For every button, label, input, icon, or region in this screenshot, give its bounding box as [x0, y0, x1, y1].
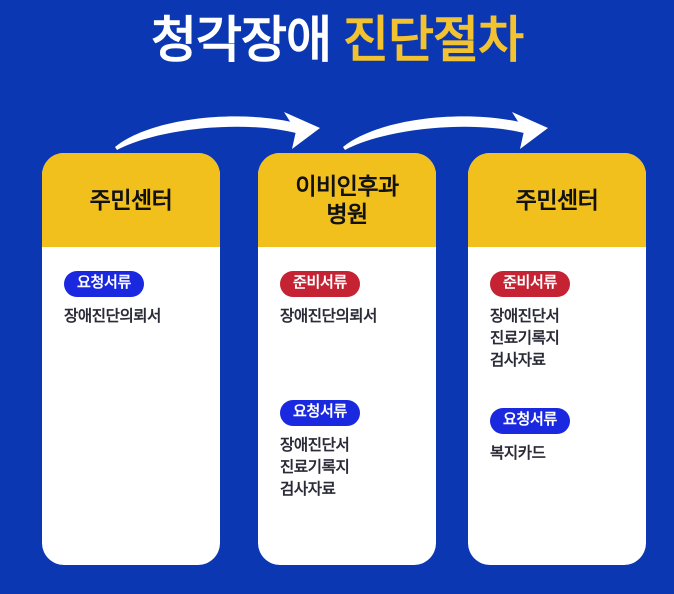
- step-card-3[interactable]: 주민센터 준비서류 장애진단서 진료기록지 검사자료 요청서류 복지카드: [468, 153, 646, 565]
- card-3-header-title: 주민센터: [516, 186, 599, 214]
- page-title: 청각장애진단절차: [0, 14, 674, 67]
- card-3-group-2-badge: 요청서류: [490, 408, 570, 434]
- card-2-header: 이비인후과 병원: [258, 153, 436, 247]
- card-2-body: 준비서류 장애진단의뢰서 요청서류 장애진단서 진료기록지 검사자료: [258, 247, 436, 565]
- card-2-group-2-documents: 장애진단서 진료기록지 검사자료: [280, 435, 424, 501]
- infographic-page: 청각장애진단절차 주민센터 요청서류 장애진단의뢰서 이비인후과 병원: [0, 0, 674, 594]
- card-3-group-1: 준비서류 장애진단서 진료기록지 검사자료: [468, 271, 646, 372]
- card-3-group-1-documents: 장애진단서 진료기록지 검사자료: [490, 306, 634, 372]
- card-2-header-title: 이비인후과 병원: [295, 172, 398, 228]
- card-1-header-title: 주민센터: [90, 186, 173, 214]
- step-card-1[interactable]: 주민센터 요청서류 장애진단의뢰서: [42, 153, 220, 565]
- page-title-part-accent: 진단절차: [343, 12, 523, 68]
- card-2-group-1-documents: 장애진단의뢰서: [280, 306, 424, 328]
- arrow-card2-to-card3: [343, 112, 548, 150]
- card-3-group-2-documents: 복지카드: [490, 443, 634, 465]
- card-1-body: 요청서류 장애진단의뢰서: [42, 247, 220, 565]
- card-2-group-1: 준비서류 장애진단의뢰서: [258, 271, 436, 328]
- card-1-group-1: 요청서류 장애진단의뢰서: [42, 271, 220, 328]
- page-title-part-primary: 청각장애: [151, 12, 331, 68]
- card-3-body: 준비서류 장애진단서 진료기록지 검사자료 요청서류 복지카드: [468, 247, 646, 565]
- card-1-header: 주민센터: [42, 153, 220, 247]
- card-2-group-1-badge: 준비서류: [280, 271, 360, 297]
- card-3-header: 주민센터: [468, 153, 646, 247]
- step-card-2[interactable]: 이비인후과 병원 준비서류 장애진단의뢰서 요청서류 장애진단서 진료기록지 검…: [258, 153, 436, 565]
- card-3-group-2: 요청서류 복지카드: [468, 408, 646, 465]
- card-1-group-1-documents: 장애진단의뢰서: [64, 306, 208, 328]
- card-3-group-1-badge: 준비서류: [490, 271, 570, 297]
- card-2-group-2: 요청서류 장애진단서 진료기록지 검사자료: [258, 400, 436, 501]
- arrow-card1-to-card2: [115, 112, 320, 150]
- card-1-group-1-badge: 요청서류: [64, 271, 144, 297]
- card-2-group-2-badge: 요청서류: [280, 400, 360, 426]
